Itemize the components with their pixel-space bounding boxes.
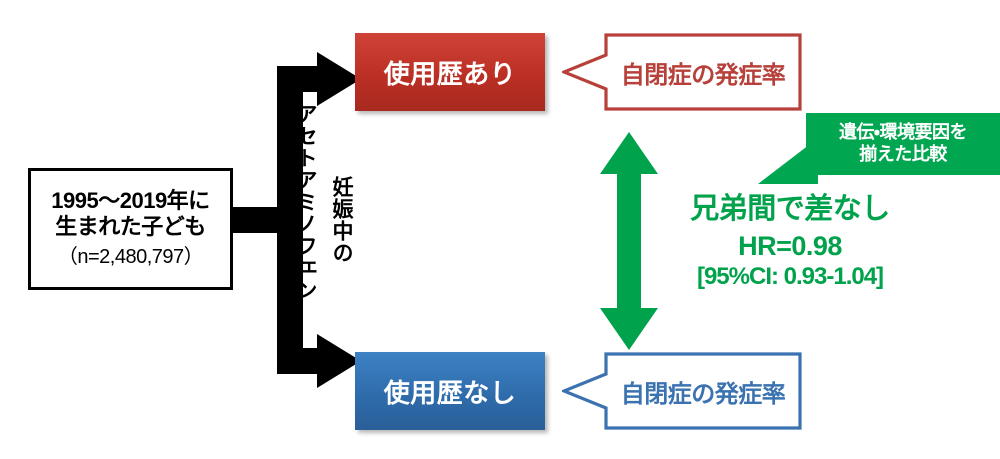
cohort-box: 1995〜2019年に 生まれた子ども （n=2,480,797）	[28, 168, 233, 290]
result-conclusion: 兄弟間で差なし	[645, 192, 935, 227]
group-exposed-label: 使用歴あり	[384, 54, 517, 91]
cohort-years: 1995〜2019年に	[51, 188, 209, 214]
cohort-sample-size: （n=2,480,797）	[58, 244, 203, 270]
callout-exposed-text: 自閉症の発症率	[610, 33, 796, 111]
exposure-period-label: 妊娠中の	[326, 176, 356, 264]
badge-line-1: 遺伝・環境要因を	[839, 122, 967, 144]
badge-line-2: 揃えた比較	[859, 144, 947, 166]
adjustment-badge-text: 遺伝・環境要因を 揃えた比較	[806, 113, 1000, 175]
result-summary: 兄弟間で差なし HR=0.98 [95%CI: 0.93-1.04]	[645, 192, 935, 292]
callout-unexposed-text: 自閉症の発症率	[610, 352, 796, 430]
diagram-canvas: 1995〜2019年に 生まれた子ども （n=2,480,797） アセトアミノ…	[0, 0, 1000, 459]
group-unexposed-box: 使用歴なし	[355, 352, 545, 430]
result-hazard-ratio: HR=0.98	[645, 230, 935, 262]
adjustment-badge: 遺伝・環境要因を 揃えた比較	[806, 113, 1000, 175]
exposure-drug-label: アセトアミノフェン	[290, 103, 320, 301]
group-exposed-box: 使用歴あり	[355, 33, 545, 111]
result-confidence-interval: [95%CI: 0.93-1.04]	[645, 263, 935, 292]
cohort-subject: 生まれた子ども	[55, 214, 206, 240]
callout-unexposed-outcome: 自閉症の発症率	[562, 352, 802, 430]
group-unexposed-label: 使用歴なし	[384, 373, 517, 410]
callout-exposed-outcome: 自閉症の発症率	[562, 33, 802, 111]
